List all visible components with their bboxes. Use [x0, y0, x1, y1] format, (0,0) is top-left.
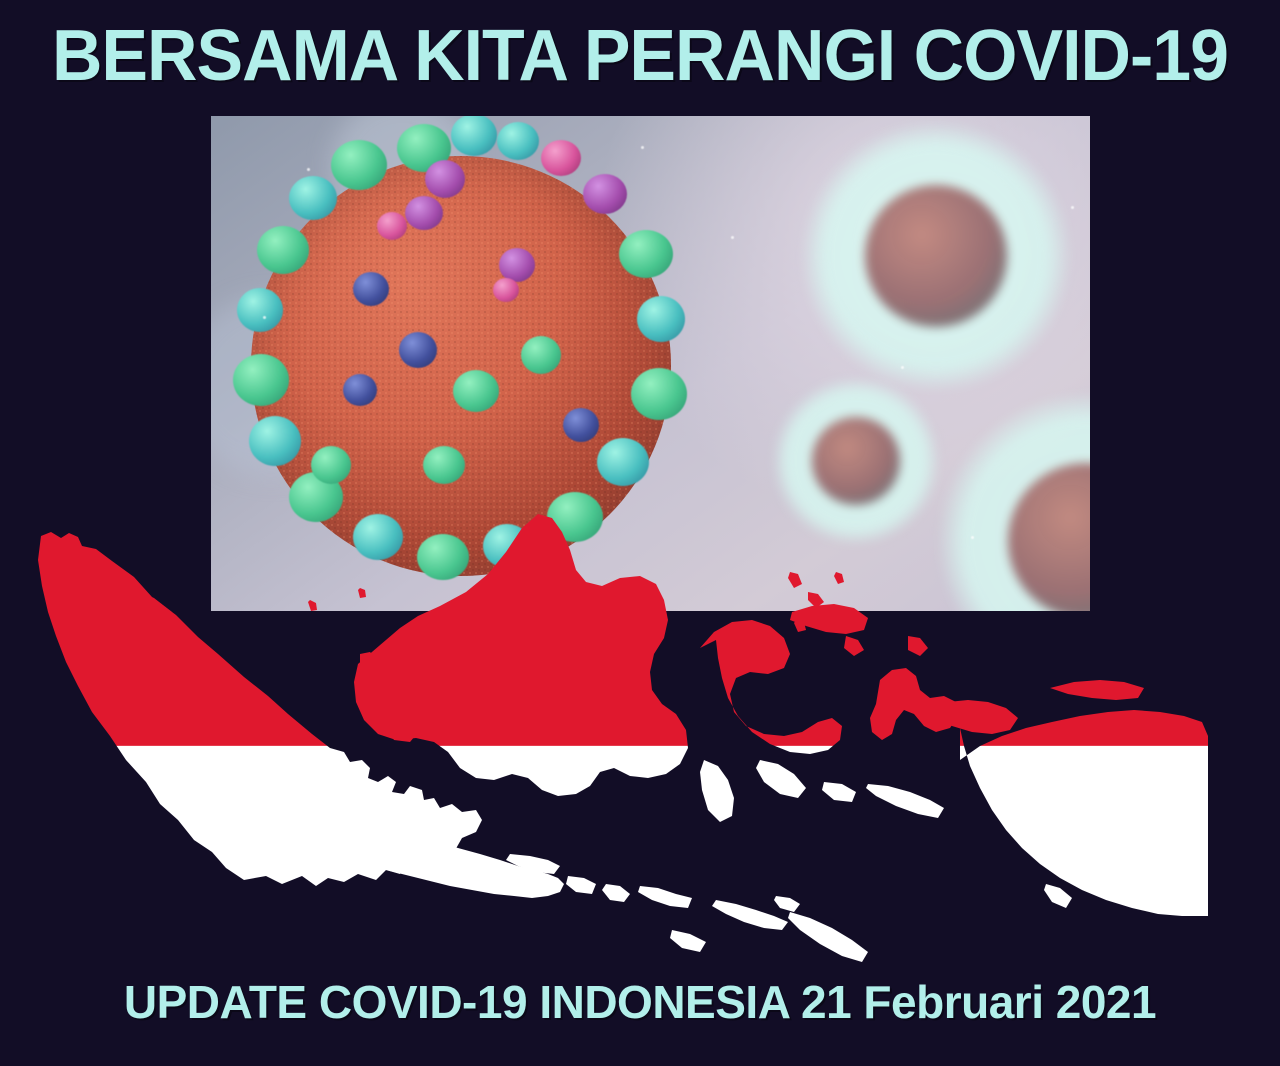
spike-protein	[399, 332, 437, 368]
island-papua-offshore	[1050, 680, 1144, 700]
island-speck-north2	[794, 620, 806, 632]
spike-protein	[499, 248, 535, 282]
page-title: BERSAMA KITA PERANGI COVID-19	[19, 18, 1261, 94]
spike-protein	[637, 296, 685, 342]
spike-protein	[289, 176, 337, 220]
island-maluku-sm1	[844, 636, 864, 656]
background-virion	[831, 151, 1041, 361]
spike-protein	[353, 272, 389, 306]
spike-protein	[257, 226, 309, 274]
island-kalimantan-tail	[612, 676, 650, 734]
island-madura	[506, 854, 560, 874]
island-seram	[866, 784, 944, 818]
dust-speck	[901, 366, 904, 369]
island-bangka	[386, 708, 420, 742]
dust-speck	[511, 586, 514, 589]
island-timor	[788, 912, 868, 962]
island-flores	[712, 900, 788, 930]
island-mentawai-n	[184, 654, 214, 686]
footer-caption: UPDATE COVID-19 INDONESIA 21 Februari 20…	[0, 976, 1280, 1028]
spike-protein	[451, 116, 497, 156]
dust-speck	[307, 168, 310, 171]
island-sulawesi-s-arm	[700, 760, 734, 822]
spike-protein	[563, 408, 599, 442]
island-sumbawa	[638, 886, 692, 908]
dust-speck	[971, 536, 974, 539]
spike-protein	[237, 288, 283, 332]
island-sulawesi-se-arm	[756, 760, 806, 798]
spike-protein	[521, 336, 561, 374]
dust-speck	[1071, 206, 1074, 209]
spike-protein	[425, 160, 465, 198]
spike-protein	[423, 446, 465, 484]
dust-speck	[263, 316, 266, 319]
spike-protein	[597, 438, 649, 486]
spike-protein	[547, 492, 603, 542]
island-belitung	[434, 722, 460, 746]
spike-protein	[249, 416, 301, 466]
spike-protein	[353, 514, 403, 560]
dust-speck	[731, 236, 734, 239]
spike-protein	[311, 446, 351, 484]
spike-protein	[453, 370, 499, 412]
island-papua	[960, 710, 1208, 916]
spike-protein	[497, 122, 539, 160]
spike-protein	[405, 196, 443, 230]
island-sumba	[670, 930, 706, 952]
island-papua-birdhead	[926, 700, 1018, 734]
island-bali	[566, 876, 596, 894]
island-sulawesi	[700, 620, 842, 754]
island-lombok	[602, 884, 630, 902]
island-maluku-sm2	[908, 636, 928, 656]
island-nias	[136, 592, 178, 628]
island-enggano	[248, 756, 268, 780]
background-virion	[971, 426, 1090, 611]
island-riau-sm2	[386, 638, 404, 656]
spike-protein	[493, 278, 519, 302]
spike-protein	[417, 534, 469, 580]
spike-protein	[583, 174, 627, 214]
spike-protein	[331, 140, 387, 190]
coronavirus-hero-image	[211, 116, 1090, 611]
spike-protein	[541, 140, 581, 176]
island-mentawai-s	[212, 700, 244, 736]
island-simeulue	[48, 538, 68, 554]
island-halmahera	[870, 668, 958, 740]
spike-protein	[233, 354, 289, 406]
island-buru	[822, 782, 856, 802]
spike-protein	[619, 230, 673, 278]
island-aru	[1044, 884, 1072, 908]
virion-core	[865, 185, 1008, 328]
spike-protein	[343, 374, 377, 406]
island-java	[296, 826, 564, 898]
spike-protein	[483, 524, 531, 568]
dust-speck	[641, 146, 644, 149]
spike-protein	[377, 212, 407, 240]
spike-protein	[631, 368, 687, 420]
virion-core	[812, 417, 900, 505]
island-riau-sm1	[360, 652, 378, 668]
covid-update-poster: BERSAMA KITA PERANGI COVID-19	[0, 0, 1280, 1066]
island-alor	[774, 896, 800, 912]
background-virion	[791, 396, 921, 526]
